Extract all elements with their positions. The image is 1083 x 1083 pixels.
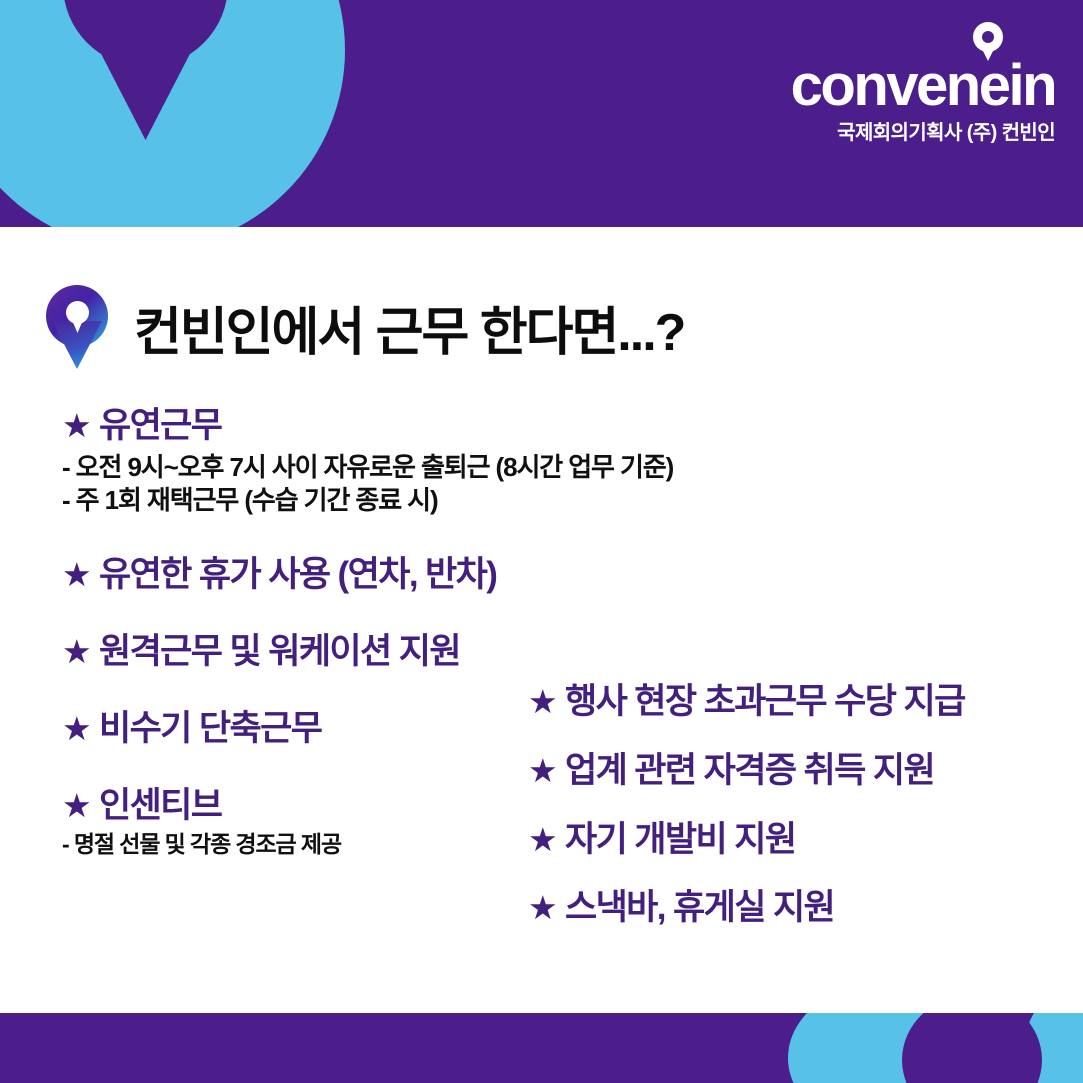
benefit-item: ★스낵바, 휴게실 지원	[528, 890, 1073, 927]
benefit-item: ★원격근무 및 워케이션 지원	[62, 634, 682, 671]
brand-logo: convenein 국제회의기획사 (주) 컨빈인	[791, 22, 1055, 143]
benefit-label: 유연근무	[99, 406, 221, 445]
star-icon: ★	[62, 710, 90, 747]
logo-subtitle: 국제회의기획사 (주) 컨빈인	[791, 123, 1055, 143]
benefit-label: 인센티브	[99, 786, 221, 825]
star-icon: ★	[62, 556, 90, 593]
benefit-item: ★유연근무	[62, 408, 682, 445]
benefit-sub-item: - 주 1회 재택근무 (수습 기간 종료 시)	[62, 484, 682, 517]
recruit-card: convenein 국제회의기획사 (주) 컨빈인 컨빈인에서 근무 한다면..…	[0, 0, 1083, 1083]
page-title: 컨빈인에서 근무 한다면...?	[134, 290, 684, 365]
benefit-label: 유연한 휴가 사용 (연차, 반차)	[99, 555, 496, 594]
title-location-pin-icon	[46, 285, 108, 369]
benefit-label: 비수기 단축근무	[99, 709, 321, 748]
star-icon: ★	[62, 407, 90, 444]
star-icon: ★	[528, 752, 556, 789]
logo-location-pin-icon	[973, 22, 1003, 62]
benefit-item: ★행사 현장 초과근무 수당 지급	[528, 684, 1073, 721]
page-title-row: 컨빈인에서 근무 한다면...?	[46, 285, 684, 369]
benefit-item: ★업계 관련 자격증 취득 지원	[528, 753, 1073, 790]
logo-pin-hole	[982, 31, 994, 43]
star-icon: ★	[528, 683, 556, 720]
logo-wordmark: convenein	[791, 58, 1055, 115]
decorative-pin-motif	[0, 0, 345, 227]
benefit-label: 행사 현장 초과근무 수당 지급	[565, 682, 965, 721]
benefits-right-column: ★행사 현장 초과근무 수당 지급 ★업계 관련 자격증 취득 지원 ★자기 개…	[528, 684, 1073, 927]
star-icon: ★	[528, 889, 556, 926]
star-icon: ★	[62, 633, 90, 670]
bottom-decor-purple-blob	[902, 1013, 1042, 1083]
benefit-sub-item: - 오전 9시~오후 7시 사이 자유로운 출퇴근 (8시간 업무 기준)	[62, 451, 682, 484]
top-banner: convenein 국제회의기획사 (주) 컨빈인	[0, 0, 1083, 227]
benefit-label: 스낵바, 휴게실 지원	[565, 888, 834, 927]
bottom-banner	[0, 1013, 1083, 1083]
benefit-label: 원격근무 및 워케이션 지원	[99, 632, 460, 671]
star-icon: ★	[528, 821, 556, 858]
benefit-item: ★유연한 휴가 사용 (연차, 반차)	[62, 557, 682, 594]
benefit-label: 업계 관련 자격증 취득 지원	[565, 751, 934, 790]
benefit-item: ★자기 개발비 지원	[528, 822, 1073, 859]
star-icon: ★	[62, 787, 90, 824]
benefit-label: 자기 개발비 지원	[565, 820, 795, 859]
